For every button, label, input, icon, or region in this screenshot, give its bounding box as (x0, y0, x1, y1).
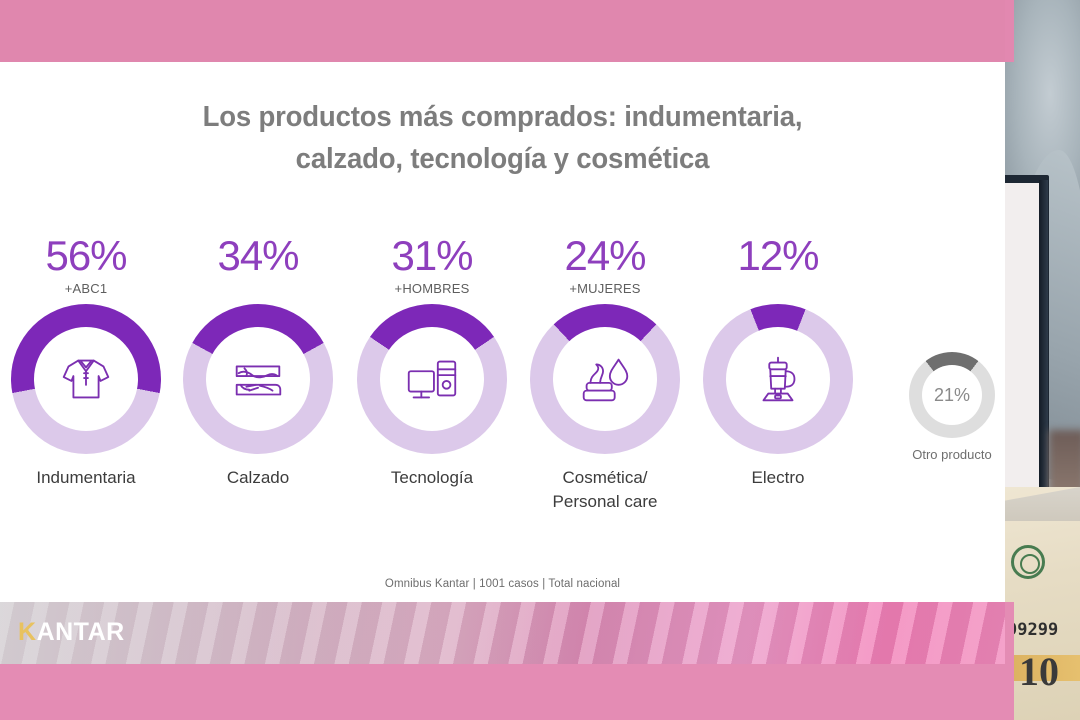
metric-category-label: Indumentaria (0, 466, 172, 490)
other-product-metric: 21% Otro producto (898, 352, 1006, 462)
slide-screenshot: Los productos más comprados: indumentari… (0, 0, 1080, 720)
metric-donut (703, 304, 853, 454)
title-line-1: Los productos más comprados: indumentari… (25, 96, 980, 138)
metric-category-label: Electro (692, 466, 864, 490)
polo-shirt-icon (34, 327, 138, 431)
metric-percentage: 34% (172, 232, 344, 280)
title-line-2: calzado, tecnología y cosmética (25, 138, 980, 180)
cosmetics-jar-icon (553, 327, 657, 431)
shoes-icon (206, 327, 310, 431)
metric-sublabel (692, 280, 864, 298)
metric-percentage: 24% (519, 232, 691, 280)
presentation-slide: Los productos más comprados: indumentari… (0, 0, 1005, 720)
metric-percentage: 12% (692, 232, 864, 280)
metric-sublabel: +ABC1 (0, 280, 172, 298)
photo-device-edge (1039, 180, 1048, 510)
metric-sublabel (172, 280, 344, 298)
photo-device-screen (1005, 183, 1039, 497)
source-footnote: Omnibus Kantar | 1001 casos | Total naci… (0, 578, 1005, 590)
metric-column-indumentaria: 56%+ABC1Indumentaria (0, 232, 172, 490)
metric-donut (11, 304, 161, 454)
metric-donut (357, 304, 507, 454)
kantar-logo-k: K (18, 618, 37, 646)
other-product-percentage: 21% (922, 365, 982, 425)
metric-column-tecnologa: 31%+HOMBRESTecnología (346, 232, 518, 490)
metric-percentage: 31% (346, 232, 518, 280)
other-product-donut: 21% (909, 352, 995, 438)
photo-banknote-seal (1011, 545, 1045, 579)
header-pink-band (0, 0, 1005, 62)
metric-column-electro: 12%Electro (692, 232, 864, 490)
photo-strip-pink-edge-top (1005, 0, 1014, 62)
metric-sublabel: +HOMBRES (346, 280, 518, 298)
metric-percentage: 56% (0, 232, 172, 280)
metric-category-label: Cosmética/Personal care (519, 466, 691, 514)
metric-donut (530, 304, 680, 454)
photo-banknote-serial: 99299 (1007, 620, 1080, 640)
metric-donut (183, 304, 333, 454)
metric-category-label: Tecnología (346, 466, 518, 490)
metric-column-cosmtica: 24%+MUJERESCosmética/Personal care (519, 232, 691, 514)
photo-strip-pink-edge-bottom (1005, 602, 1014, 720)
footer-graphic-band (0, 602, 1005, 664)
metrics-row: 56%+ABC1Indumentaria34%Calzado31%+HOMBRE… (0, 232, 880, 532)
kantar-logo: KANTAR (18, 618, 125, 647)
page-title: Los productos más comprados: indumentari… (25, 96, 980, 180)
other-product-label: Otro producto (898, 447, 1006, 462)
desktop-computer-icon (380, 327, 484, 431)
metric-category-label: Calzado (172, 466, 344, 490)
footer-pink-band (0, 664, 1005, 720)
photo-banknote-denomination: 10 (1019, 648, 1059, 695)
metric-column-calzado: 34%Calzado (172, 232, 344, 490)
metric-sublabel: +MUJERES (519, 280, 691, 298)
kantar-logo-rest: ANTAR (37, 618, 125, 646)
blender-icon (726, 327, 830, 431)
background-photo-strip: 99299 10 (1005, 0, 1080, 720)
